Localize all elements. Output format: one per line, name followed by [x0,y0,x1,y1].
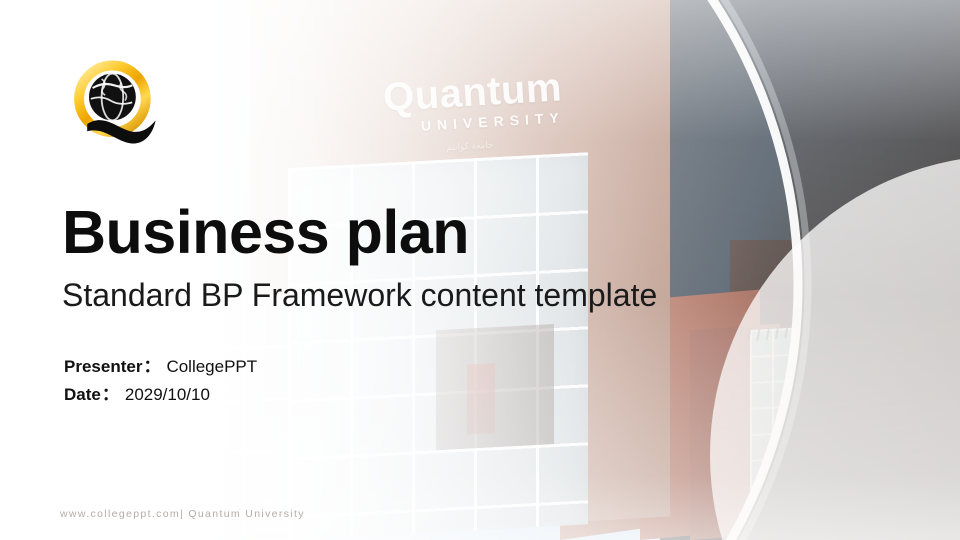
slide-title: Business plan [62,200,469,264]
date-row: Date：2029/10/10 [64,381,257,409]
logo-globe-icon [89,74,136,121]
presenter-row: Presenter：CollegePPT [64,353,257,381]
teal-glass-mullions [750,326,830,540]
date-label: Date [64,385,101,404]
slide-subtitle: Standard BP Framework content template [62,276,657,314]
title-slide: Quantum UNIVERSITY جامعة كوانتم [0,0,960,540]
presenter-info-block: Presenter：CollegePPT Date：2029/10/10 [64,353,257,408]
date-separator: ： [101,385,120,404]
date-value: 2029/10/10 [120,385,210,404]
quantum-university-logo-icon [62,52,170,160]
slide-footer: www.collegeppt.com| Quantum University [60,508,305,520]
presenter-value: CollegePPT [161,357,257,376]
dark-window-pane [436,324,554,450]
teal-glass-tower [750,326,830,540]
presenter-separator: ： [142,357,161,376]
presenter-label: Presenter [64,357,142,376]
